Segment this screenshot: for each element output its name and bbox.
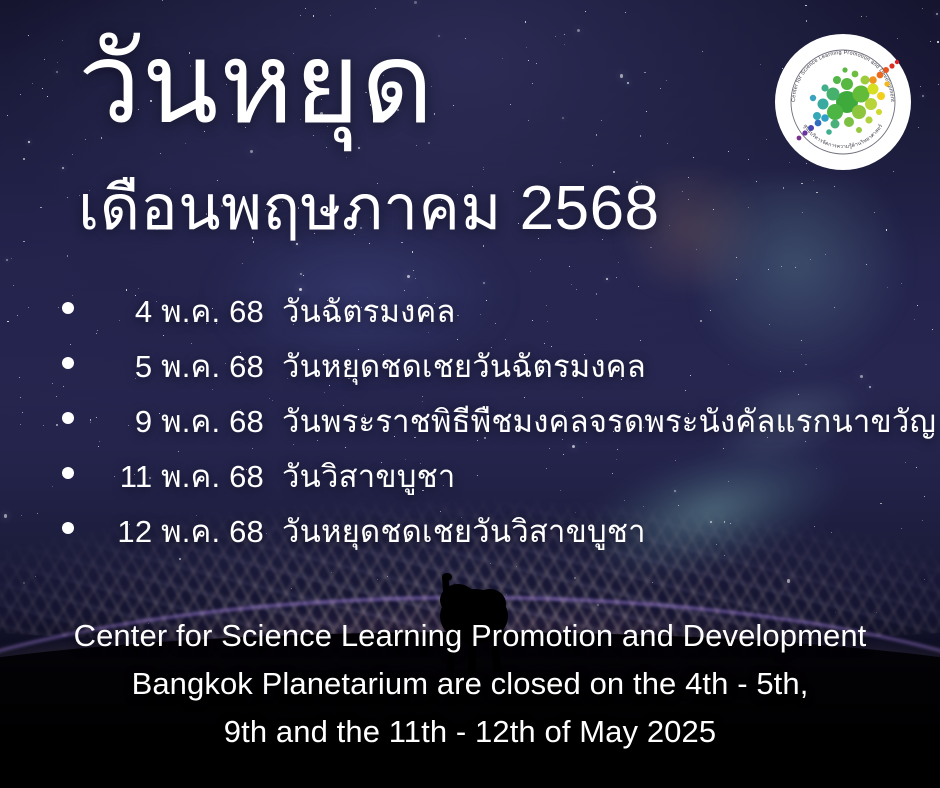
holiday-date: 5 พ.ค. 68 <box>92 341 264 391</box>
holiday-list: 4 พ.ค. 68วันฉัตรมงคล5 พ.ค. 68วันหยุดชดเช… <box>62 286 922 561</box>
page-subtitle: เดือนพฤษภาคม 2568 <box>78 172 660 246</box>
footer-line-3: 9th and the 11th - 12th of May 2025 <box>0 708 940 756</box>
poster-content: วันหยุด เดือนพฤษภาคม 2568 4 พ.ค. 68วันฉั… <box>0 0 940 788</box>
footer-note: Center for Science Learning Promotion an… <box>0 612 940 756</box>
holiday-name: วันวิสาขบูชา <box>282 451 922 501</box>
holiday-announcement-poster: Center for Science Learning Promotion an… <box>0 0 940 788</box>
bullet-dot-icon <box>62 412 74 424</box>
holiday-date: 11 พ.ค. 68 <box>92 451 264 501</box>
footer-line-1: Center for Science Learning Promotion an… <box>0 612 940 660</box>
footer-line-2: Bangkok Planetarium are closed on the 4t… <box>0 660 940 708</box>
holiday-date: 9 พ.ค. 68 <box>92 396 264 446</box>
bullet-dot-icon <box>62 522 74 534</box>
holiday-date: 4 พ.ค. 68 <box>92 286 264 336</box>
holiday-name: วันหยุดชดเชยวันฉัตรมงคล <box>282 341 922 391</box>
bullet-dot-icon <box>62 467 74 479</box>
holiday-name: วันฉัตรมงคล <box>282 286 922 336</box>
list-item: 12 พ.ค. 68วันหยุดชดเชยวันวิสาขบูชา <box>62 506 922 561</box>
list-item: 9 พ.ค. 68วันพระราชพิธีพืชมงคลจรดพระนังคั… <box>62 396 922 451</box>
list-item: 5 พ.ค. 68วันหยุดชดเชยวันฉัตรมงคล <box>62 341 922 396</box>
bullet-dot-icon <box>62 302 74 314</box>
holiday-name: วันหยุดชดเชยวันวิสาขบูชา <box>282 506 922 556</box>
list-item: 11 พ.ค. 68วันวิสาขบูชา <box>62 451 922 506</box>
list-item: 4 พ.ค. 68วันฉัตรมงคล <box>62 286 922 341</box>
page-title: วันหยุด <box>78 18 435 150</box>
holiday-date: 12 พ.ค. 68 <box>92 506 264 556</box>
bullet-dot-icon <box>62 357 74 369</box>
holiday-name: วันพระราชพิธีพืชมงคลจรดพระนังคัลแรกนาขวั… <box>282 396 936 446</box>
